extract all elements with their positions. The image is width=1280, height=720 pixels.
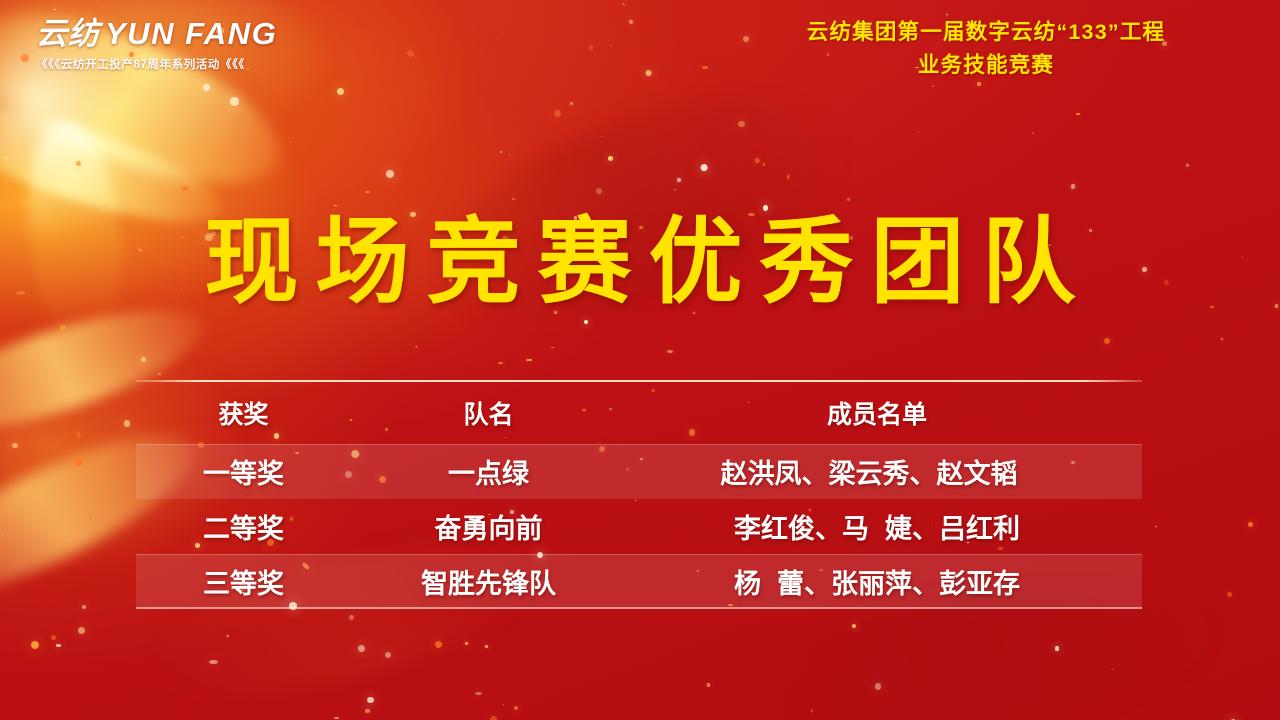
sparkle-dot <box>500 151 502 153</box>
sparkle-dot <box>349 615 354 620</box>
results-table: 获奖 队名 成员名单 一等奖 一点绿 赵洪凤、梁云秀、赵文韬 二等奖 奋勇向前 … <box>136 380 1142 609</box>
sparkle-dot <box>1104 338 1110 344</box>
sparkle-dot <box>465 642 468 645</box>
sparkle-dot <box>584 320 588 324</box>
sparkle-dot <box>1111 669 1114 670</box>
sparkle-dot <box>124 420 130 426</box>
cell-members: 赵洪凤、梁云秀、赵文韬 <box>626 452 1142 491</box>
event-title: 云纺集团第一届数字云纺“133”工程 业务技能竞赛 <box>716 16 1256 83</box>
column-header-prize: 获奖 <box>136 395 351 431</box>
sparkle-dot <box>498 362 503 364</box>
table-row: 一等奖 一点绿 赵洪凤、梁云秀、赵文韬 <box>136 444 1142 499</box>
cell-members: 杨 蕾、张丽萍、彭亚存 <box>626 562 1142 601</box>
table-row: 三等奖 智胜先锋队 杨 蕾、张丽萍、彭亚存 <box>136 554 1142 609</box>
sparkle-dot <box>56 644 61 646</box>
event-title-line2: 业务技能竞赛 <box>716 49 1256 82</box>
cell-members: 李红俊、马 婕、吕红利 <box>626 507 1142 546</box>
sparkle-dot <box>1221 338 1223 340</box>
sparkle-dot <box>290 142 291 143</box>
sparkle-dot <box>485 645 488 648</box>
sparkle-dot <box>203 84 210 91</box>
logo-wordmark: 云纺YUN FANG <box>36 18 276 51</box>
page-title: 现场竞赛优秀团队 <box>0 215 1280 309</box>
sparkle-dot <box>490 716 497 720</box>
sparkle-dot <box>334 205 337 206</box>
sparkle-dot <box>385 652 391 658</box>
sparkle-dot <box>334 717 339 719</box>
table-row: 二等奖 奋勇向前 李红俊、马 婕、吕红利 <box>136 499 1142 554</box>
sparkle-dot <box>475 692 482 695</box>
sparkle-dot <box>158 373 161 376</box>
sparkle-dot <box>230 97 238 105</box>
cell-team: 智胜先锋队 <box>351 562 626 601</box>
sparkle-dot <box>1227 592 1232 597</box>
sparkle-dot <box>54 9 56 10</box>
logo-subtitle: 《《《云纺开工投产87周年系列活动《《《 <box>36 56 276 72</box>
cell-team: 一点绿 <box>351 452 626 491</box>
sparkle-dot <box>1055 646 1060 651</box>
sparkle-dot <box>1071 184 1075 188</box>
logo-wordmark-cn: 云纺 <box>36 16 100 51</box>
cell-prize: 一等奖 <box>136 452 351 491</box>
sparkle-dot <box>707 683 710 686</box>
event-title-line1: 云纺集团第一届数字云纺“133”工程 <box>807 20 1165 44</box>
sparkle-dot <box>738 121 745 128</box>
column-header-members: 成员名单 <box>626 395 1142 431</box>
sparkle-dot <box>367 697 374 704</box>
sparkle-dot <box>763 163 766 166</box>
sparkle-dot <box>365 709 370 714</box>
logo-wordmark-en: YUN FANG <box>105 16 277 51</box>
sparkle-dot <box>608 156 613 161</box>
sparkle-dot <box>76 432 81 437</box>
cell-prize: 二等奖 <box>136 507 351 546</box>
cell-team: 奋勇向前 <box>351 507 626 546</box>
brand-logo: 云纺YUN FANG 《《《云纺开工投产87周年系列活动《《《 <box>36 18 276 72</box>
sparkle-dot <box>82 605 86 609</box>
sparkle-dot <box>875 683 882 690</box>
cell-prize: 三等奖 <box>136 562 351 601</box>
sparkle-dot <box>209 660 218 664</box>
sparkle-dot <box>5 157 8 159</box>
slide-canvas: 云纺YUN FANG 《《《云纺开工投产87周年系列活动《《《 云纺集团第一届数… <box>0 0 1280 720</box>
sparkle-dot <box>509 154 510 155</box>
sparkle-dot <box>503 704 504 705</box>
sparkle-dot <box>589 45 593 49</box>
sparkle-dot <box>677 178 681 182</box>
sparkle-dot <box>554 110 561 117</box>
sparkle-dot <box>76 161 81 166</box>
sparkle-dot <box>78 627 85 634</box>
sparkle-dot <box>610 45 611 46</box>
column-header-team: 队名 <box>351 395 626 431</box>
table-header-row: 获奖 队名 成员名单 <box>136 382 1142 444</box>
sparkle-dot <box>358 645 365 652</box>
sparkle-dot <box>31 641 39 649</box>
sparkle-dot <box>386 170 394 178</box>
sparkle-dot <box>141 357 146 362</box>
